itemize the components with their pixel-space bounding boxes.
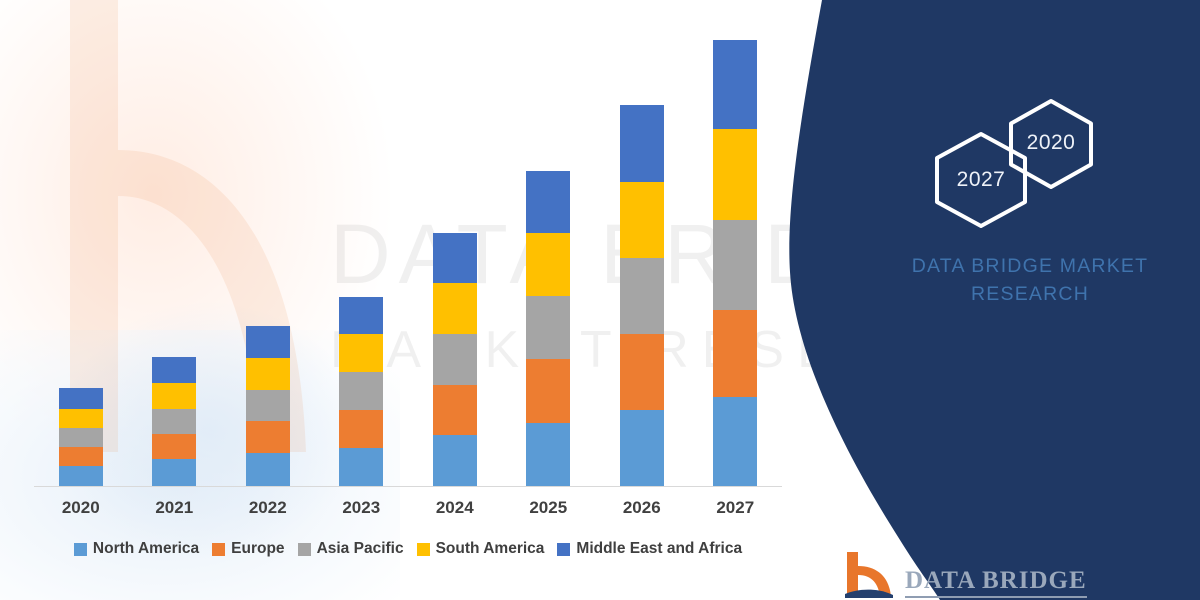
stacked-bar-chart: 20202021202220232024202520262027 North A… [0,0,800,600]
legend-swatch-icon [557,543,570,556]
bridge-b-mark-icon [845,552,893,598]
hexagon-label-2020: 2020 [1007,131,1095,155]
x-axis-label: 2022 [221,498,314,518]
bar-segment [526,171,570,233]
bar-segment [339,448,383,486]
stacked-bar [526,171,570,486]
bar-segment [59,409,103,428]
footer-logo: DATA BRIDGE [845,552,1087,598]
bar-column [689,40,782,486]
bar-segment [339,334,383,372]
bar-segment [713,129,757,220]
legend-swatch-icon [212,543,225,556]
bar-series-area [34,40,782,486]
legend-label: Europe [231,540,284,558]
bar-segment [339,410,383,448]
bar-segment [713,220,757,310]
bar-segment [713,40,757,129]
bar-segment [620,182,664,258]
stacked-bar [433,233,477,486]
legend-item[interactable]: South America [417,540,545,558]
bar-segment [152,383,196,408]
bar-segment [620,258,664,334]
bar-segment [246,390,290,422]
bar-column [221,40,314,486]
x-axis-labels: 20202021202220232024202520262027 [34,498,782,518]
bar-segment [152,459,196,486]
bar-segment [59,428,103,447]
bar-segment [713,310,757,397]
stacked-bar [713,40,757,486]
x-axis-label: 2025 [502,498,595,518]
brand-title-line-1: DATA BRIDGE MARKET [880,252,1180,280]
stacked-bar [59,388,103,486]
bar-column [408,40,501,486]
bar-column [502,40,595,486]
bar-segment [526,359,570,422]
bar-segment [59,466,103,486]
bar-segment [433,435,477,486]
chart-legend: North AmericaEuropeAsia PacificSouth Ame… [34,540,782,558]
x-axis-label: 2027 [689,498,782,518]
bar-segment [59,388,103,408]
bar-segment [246,421,290,453]
legend-item[interactable]: North America [74,540,199,558]
bar-segment [152,409,196,434]
stacked-bar [339,297,383,486]
bar-column [595,40,688,486]
x-axis-label: 2020 [34,498,127,518]
bar-segment [433,334,477,385]
legend-label: North America [93,540,199,558]
bar-column [34,40,127,486]
bar-segment [246,326,290,358]
bar-segment [152,434,196,459]
bar-segment [526,423,570,486]
bar-column [315,40,408,486]
category-axis-line [34,486,782,487]
stacked-bar [152,357,196,486]
bar-segment [620,334,664,410]
legend-label: South America [436,540,545,558]
bar-segment [433,233,477,284]
x-axis-label: 2023 [315,498,408,518]
x-axis-label: 2024 [408,498,501,518]
bar-segment [433,283,477,334]
legend-label: Asia Pacific [317,540,404,558]
bar-segment [620,105,664,182]
legend-label: Middle East and Africa [576,540,742,558]
bar-segment [59,447,103,466]
bar-segment [152,357,196,384]
legend-swatch-icon [417,543,430,556]
bar-segment [526,233,570,296]
legend-swatch-icon [298,543,311,556]
bar-segment [713,397,757,486]
bar-segment [339,297,383,334]
legend-item[interactable]: Asia Pacific [298,540,404,558]
x-axis-label: 2021 [128,498,221,518]
bar-segment [526,296,570,359]
infographic-canvas: DATA BRIDGE MARKET RESEARCH 202020212022… [0,0,1200,600]
legend-swatch-icon [74,543,87,556]
stacked-bar [246,326,290,486]
brand-title-line-2: RESEARCH [880,280,1180,308]
bar-segment [433,385,477,436]
bar-segment [339,372,383,410]
brand-title: DATA BRIDGE MARKET RESEARCH [880,252,1180,309]
bar-segment [620,410,664,486]
footer-wordmark: DATA BRIDGE [905,568,1087,598]
x-axis-label: 2026 [595,498,688,518]
legend-item[interactable]: Middle East and Africa [557,540,742,558]
stacked-bar [620,105,664,486]
bar-column [128,40,221,486]
bar-segment [246,358,290,390]
hexagon-badge-2020: 2020 [1007,98,1095,190]
legend-item[interactable]: Europe [212,540,284,558]
hexagon-badges: 2027 2020 [925,98,1125,228]
bar-segment [246,453,290,486]
